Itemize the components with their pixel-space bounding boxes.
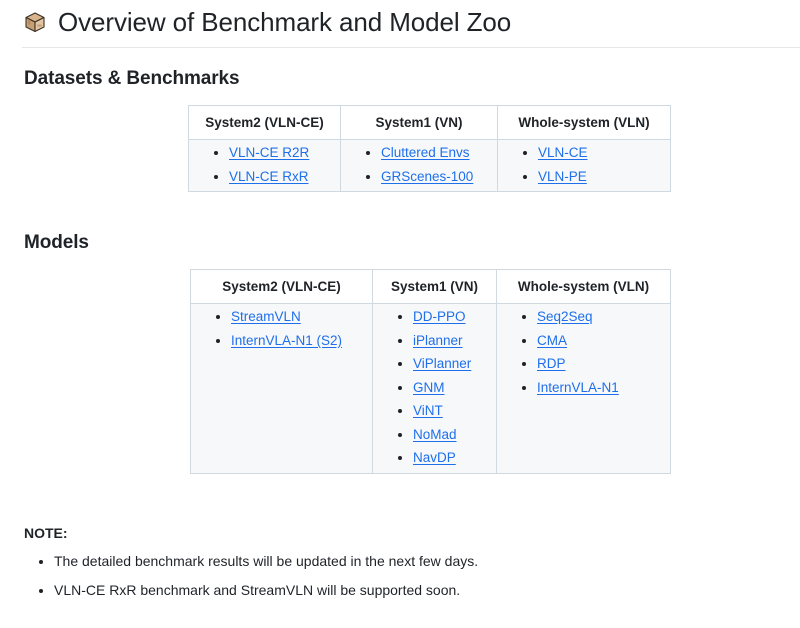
link-nomad[interactable]: NoMad: [413, 427, 457, 442]
column-header-whole-system: Whole-system (VLN): [498, 106, 671, 140]
link-list: Seq2Seq CMA RDP InternVLA-N1: [507, 310, 660, 394]
link-list: VLN-CE R2R VLN-CE RxR: [199, 146, 330, 183]
link-rdp[interactable]: RDP: [537, 356, 566, 371]
link-vln-ce[interactable]: VLN-CE: [538, 145, 588, 160]
section-heading-datasets: Datasets & Benchmarks: [24, 68, 239, 90]
list-item: CMA: [537, 334, 660, 348]
list-item: iPlanner: [413, 334, 486, 348]
link-dd-ppo[interactable]: DD-PPO: [413, 309, 466, 324]
table-row: StreamVLN InternVLA-N1 (S2) DD-PPO iPlan…: [191, 304, 671, 474]
link-list: Cluttered Envs GRScenes-100: [351, 146, 487, 183]
page-title: Overview of Benchmark and Model Zoo: [58, 6, 511, 39]
link-seq2seq[interactable]: Seq2Seq: [537, 309, 593, 324]
link-gnm[interactable]: GNM: [413, 380, 445, 395]
column-header-system1: System1 (VN): [341, 106, 498, 140]
list-item: InternVLA-N1 (S2): [231, 334, 362, 348]
page-header: Overview of Benchmark and Model Zoo: [0, 0, 800, 39]
list-item: NoMad: [413, 428, 486, 442]
table-cell-whole-system: VLN-CE VLN-PE: [498, 140, 671, 192]
link-vln-pe[interactable]: VLN-PE: [538, 169, 587, 184]
list-item: NavDP: [413, 451, 486, 465]
note-list-item: The detailed benchmark results will be u…: [54, 553, 478, 570]
link-vln-ce-r2r[interactable]: VLN-CE R2R: [229, 145, 309, 160]
link-list: DD-PPO iPlanner ViPlanner GNM ViNT NoMad…: [383, 310, 486, 465]
column-header-system2: System2 (VLN-CE): [191, 270, 373, 304]
column-header-whole-system: Whole-system (VLN): [497, 270, 671, 304]
list-item: DD-PPO: [413, 310, 486, 324]
list-item: VLN-CE RxR: [229, 170, 330, 184]
link-vln-ce-rxr[interactable]: VLN-CE RxR: [229, 169, 309, 184]
table-header-row: System2 (VLN-CE) System1 (VN) Whole-syst…: [191, 270, 671, 304]
list-item: ViNT: [413, 404, 486, 418]
list-item: GNM: [413, 381, 486, 395]
column-header-system1: System1 (VN): [373, 270, 497, 304]
package-icon: [22, 9, 48, 35]
datasets-table: System2 (VLN-CE) System1 (VN) Whole-syst…: [188, 105, 671, 192]
link-internvla-n1[interactable]: InternVLA-N1: [537, 380, 619, 395]
table-cell-system1: DD-PPO iPlanner ViPlanner GNM ViNT NoMad…: [373, 304, 497, 474]
table-header-row: System2 (VLN-CE) System1 (VN) Whole-syst…: [189, 106, 671, 140]
table-cell-system2: StreamVLN InternVLA-N1 (S2): [191, 304, 373, 474]
note-list: The detailed benchmark results will be u…: [24, 553, 478, 599]
link-internvla-n1-s2[interactable]: InternVLA-N1 (S2): [231, 333, 342, 348]
table-row: VLN-CE R2R VLN-CE RxR Cluttered Envs GRS…: [189, 140, 671, 192]
list-item: VLN-PE: [538, 170, 660, 184]
list-item: GRScenes-100: [381, 170, 487, 184]
page-root: Overview of Benchmark and Model Zoo Data…: [0, 0, 800, 628]
link-viplanner[interactable]: ViPlanner: [413, 356, 471, 371]
link-cma[interactable]: CMA: [537, 333, 567, 348]
table-cell-whole-system: Seq2Seq CMA RDP InternVLA-N1: [497, 304, 671, 474]
column-header-system2: System2 (VLN-CE): [189, 106, 341, 140]
link-iplanner[interactable]: iPlanner: [413, 333, 463, 348]
list-item: RDP: [537, 357, 660, 371]
link-vint[interactable]: ViNT: [413, 403, 443, 418]
list-item: StreamVLN: [231, 310, 362, 324]
list-item: InternVLA-N1: [537, 381, 660, 395]
link-navdp[interactable]: NavDP: [413, 450, 456, 465]
list-item: Cluttered Envs: [381, 146, 487, 160]
list-item: ViPlanner: [413, 357, 486, 371]
list-item: VLN-CE R2R: [229, 146, 330, 160]
table-cell-system1: Cluttered Envs GRScenes-100: [341, 140, 498, 192]
note-section: NOTE: The detailed benchmark results wil…: [24, 525, 478, 599]
note-label: NOTE:: [24, 525, 478, 541]
link-streamvln[interactable]: StreamVLN: [231, 309, 301, 324]
section-heading-models: Models: [24, 232, 89, 254]
list-item: Seq2Seq: [537, 310, 660, 324]
link-grscenes-100[interactable]: GRScenes-100: [381, 169, 473, 184]
table-cell-system2: VLN-CE R2R VLN-CE RxR: [189, 140, 341, 192]
note-list-item: VLN-CE RxR benchmark and StreamVLN will …: [54, 582, 478, 599]
link-list: StreamVLN InternVLA-N1 (S2): [201, 310, 362, 347]
link-cluttered-envs[interactable]: Cluttered Envs: [381, 145, 470, 160]
link-list: VLN-CE VLN-PE: [508, 146, 660, 183]
title-divider: [22, 47, 800, 48]
list-item: VLN-CE: [538, 146, 660, 160]
models-table: System2 (VLN-CE) System1 (VN) Whole-syst…: [190, 269, 671, 474]
